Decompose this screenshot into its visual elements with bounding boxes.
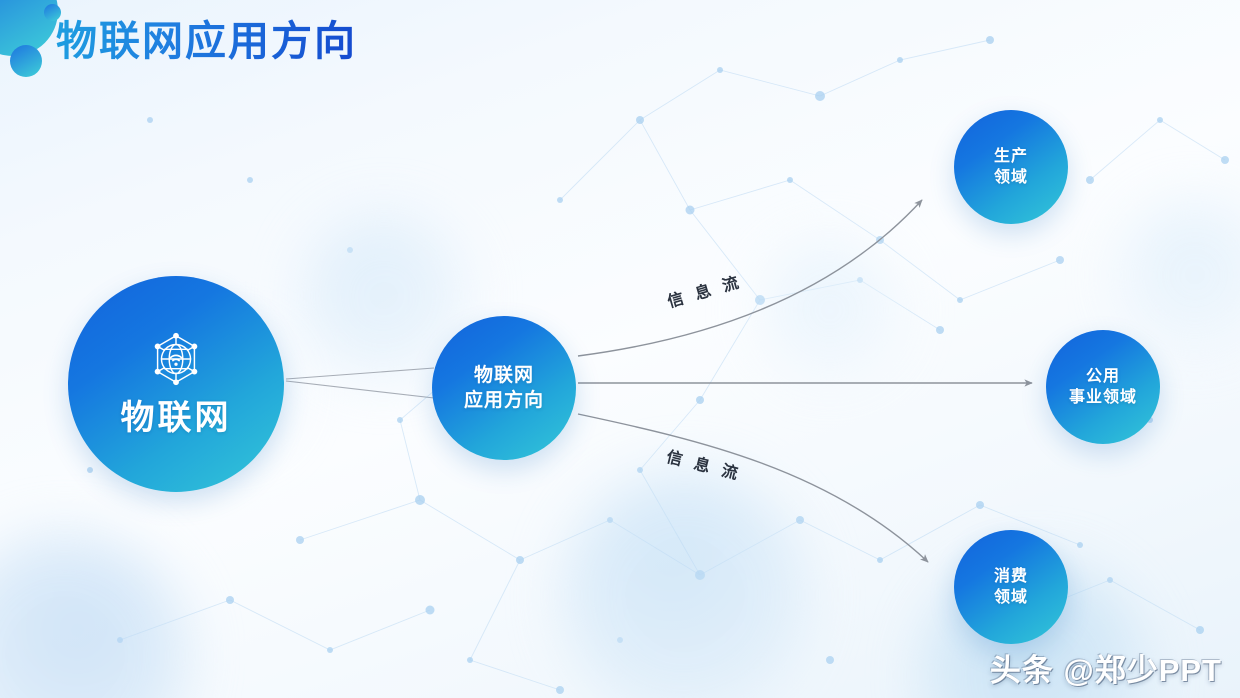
node-iot[interactable]: 物联网 bbox=[68, 276, 284, 492]
node-direction[interactable]: 物联网 应用方向 bbox=[432, 316, 576, 460]
flow-label-bottom: 信 息 流 bbox=[664, 443, 744, 485]
node-consumer-label: 消费 领域 bbox=[994, 566, 1028, 608]
bokeh-circle bbox=[1120, 200, 1240, 350]
page-title: 物联网应用方向 bbox=[56, 14, 357, 69]
bokeh-circle bbox=[760, 240, 900, 380]
title-circle-medium bbox=[10, 45, 42, 77]
watermark: 头条 @郑少PPT bbox=[990, 645, 1222, 690]
iot-network-globe-icon bbox=[145, 328, 207, 390]
node-production[interactable]: 生产 领域 bbox=[954, 110, 1068, 224]
flow-label-top: 信 息 流 bbox=[664, 268, 745, 312]
slide-canvas: 物联网应用方向 信 息 流 信 息 流 bbox=[0, 0, 1240, 698]
bokeh-circle bbox=[0, 530, 190, 698]
bokeh-circle bbox=[560, 470, 810, 698]
node-utility-label: 公用 事业领域 bbox=[1069, 366, 1137, 408]
node-utility[interactable]: 公用 事业领域 bbox=[1046, 330, 1160, 444]
node-iot-label: 物联网 bbox=[121, 396, 232, 441]
node-production-label: 生产 领域 bbox=[994, 146, 1028, 188]
node-direction-label: 物联网 应用方向 bbox=[464, 363, 544, 413]
node-consumer[interactable]: 消费 领域 bbox=[954, 530, 1068, 644]
